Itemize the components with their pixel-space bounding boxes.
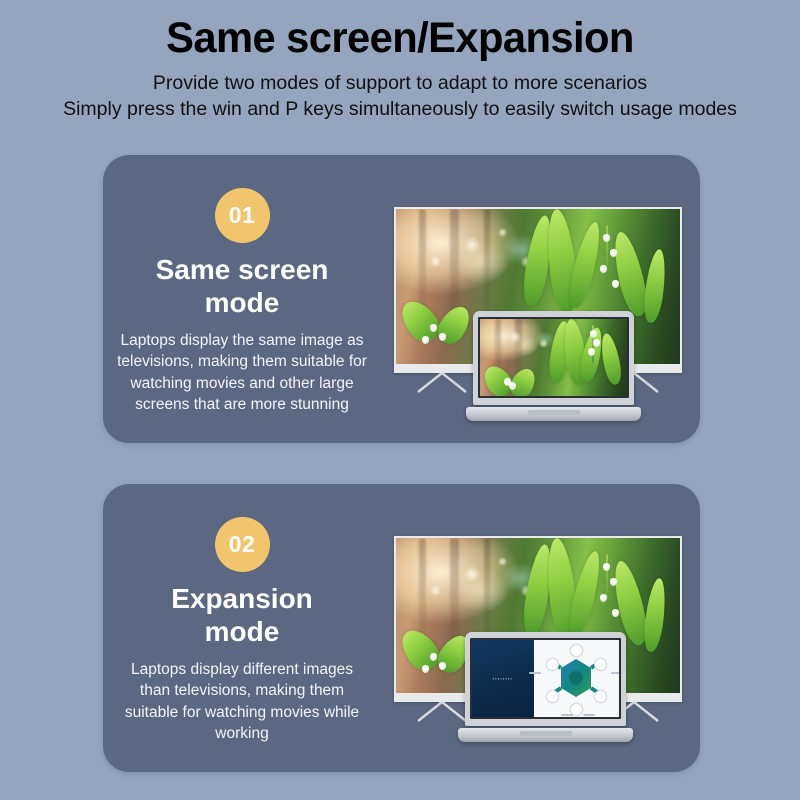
laptop-base bbox=[466, 407, 641, 421]
step-badge-number: 02 bbox=[229, 533, 256, 556]
device-scene-mirrored bbox=[380, 155, 690, 443]
mode-description: Laptops display the same image as televi… bbox=[103, 330, 381, 416]
laptop-lid: ▪▪▪▪▪▪▪▪ bbox=[465, 632, 626, 726]
tv-leg-left bbox=[416, 371, 468, 393]
page-header: Same screen/Expansion Provide two modes … bbox=[0, 0, 800, 123]
slide-title-panel: ▪▪▪▪▪▪▪▪ bbox=[472, 640, 534, 717]
laptop-trackpad bbox=[528, 410, 580, 415]
mode-title-line-2: mode bbox=[127, 286, 357, 319]
subtitle-line-2: Simply press the win and P keys simultan… bbox=[0, 97, 800, 123]
laptop: ▪▪▪▪▪▪▪▪ bbox=[458, 632, 633, 742]
laptop bbox=[466, 311, 641, 421]
mode-card-expansion[interactable]: 02 Expansion mode Laptops display differ… bbox=[103, 484, 700, 772]
step-badge: 02 bbox=[215, 517, 270, 572]
laptop-screen: ▪▪▪▪▪▪▪▪ bbox=[470, 638, 621, 719]
laptop-trackpad bbox=[520, 731, 572, 736]
subtitle-block: Provide two modes of support to adapt to… bbox=[0, 71, 800, 122]
hexagon-infographic-icon bbox=[547, 650, 605, 708]
slide-title-text: ▪▪▪▪▪▪▪▪ bbox=[493, 676, 513, 681]
card-text-column: 01 Same screen mode Laptops display the … bbox=[103, 155, 381, 443]
laptop-base bbox=[458, 728, 633, 742]
card-text-column: 02 Expansion mode Laptops display differ… bbox=[103, 484, 381, 772]
mode-title-line-1: Expansion bbox=[127, 582, 357, 615]
device-scene-extended: ▪▪▪▪▪▪▪▪ bbox=[380, 484, 690, 772]
mode-title: Same screen mode bbox=[103, 253, 381, 319]
step-badge: 01 bbox=[215, 188, 270, 243]
slide-content-panel bbox=[534, 640, 619, 717]
page-title: Same screen/Expansion bbox=[12, 14, 788, 62]
presentation-slide: ▪▪▪▪▪▪▪▪ bbox=[472, 640, 619, 717]
subtitle-line-1: Provide two modes of support to adapt to… bbox=[0, 71, 800, 97]
step-badge-number: 01 bbox=[229, 204, 256, 227]
laptop-lid bbox=[473, 311, 634, 405]
mode-title-line-2: mode bbox=[127, 615, 357, 648]
mode-title-line-1: Same screen bbox=[127, 253, 357, 286]
mode-description: Laptops display different images than te… bbox=[103, 659, 381, 745]
forest-wallpaper-mirror bbox=[480, 319, 627, 396]
mode-title: Expansion mode bbox=[103, 582, 381, 648]
laptop-screen bbox=[478, 317, 629, 398]
mode-card-same-screen[interactable]: 01 Same screen mode Laptops display the … bbox=[103, 155, 700, 443]
